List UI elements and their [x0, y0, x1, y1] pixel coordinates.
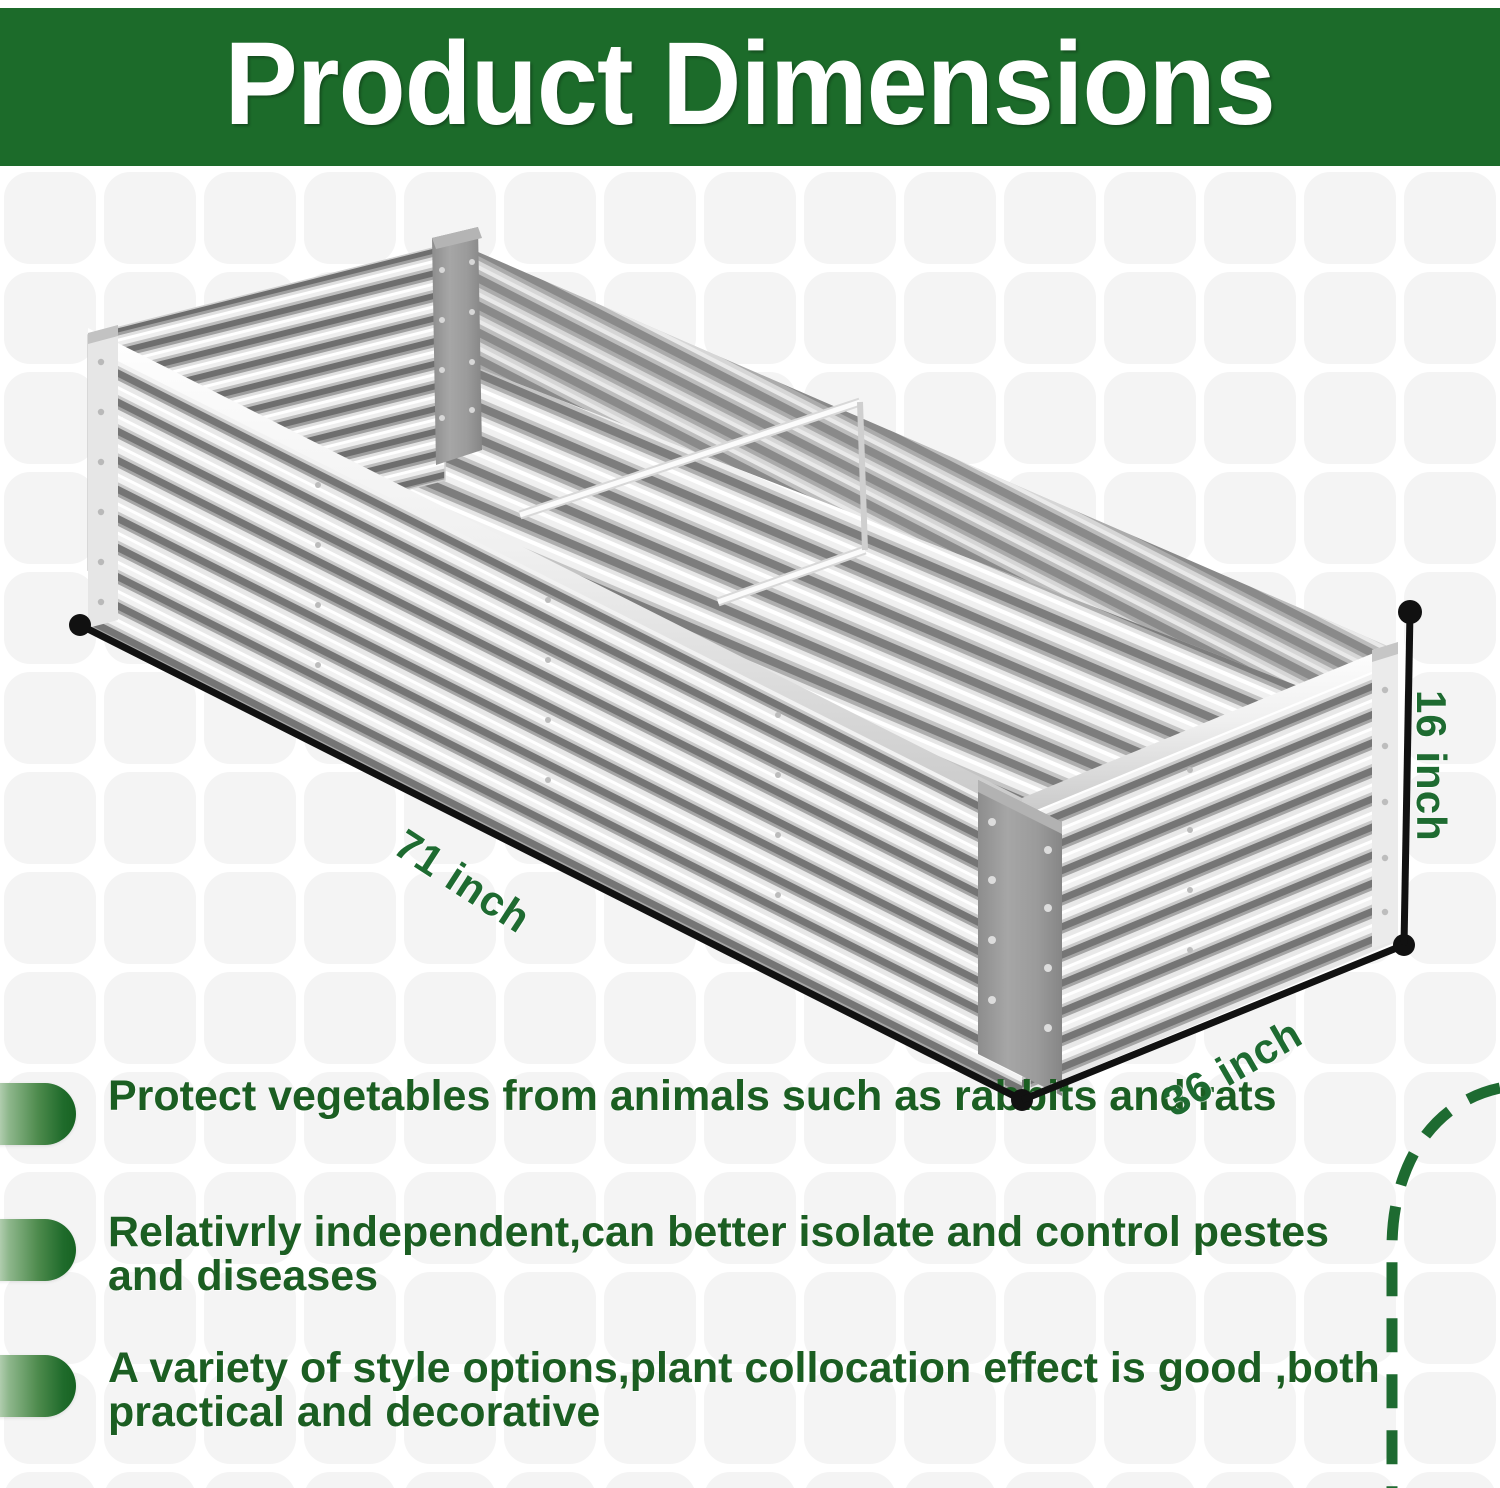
feature-list: Protect vegetables from animals such as … — [0, 1075, 1420, 1483]
corner-post-right — [1372, 642, 1398, 948]
list-item: A variety of style options,plant colloca… — [0, 1347, 1420, 1447]
bullet-pill-icon — [0, 1083, 76, 1145]
bullet-pill-icon — [0, 1219, 76, 1281]
product-dimensions-infographic: Product Dimensions — [0, 0, 1500, 1488]
corner-post-left — [88, 325, 118, 628]
corner-post-front — [978, 780, 1062, 1096]
list-item-label: A variety of style options,plant colloca… — [108, 1347, 1408, 1435]
list-item: Protect vegetables from animals such as … — [0, 1075, 1420, 1175]
list-item-label: Relativrly independent,can better isolat… — [108, 1211, 1408, 1299]
list-item: Relativrly independent,can better isolat… — [0, 1211, 1420, 1311]
page-title: Product Dimensions — [225, 25, 1275, 149]
header-banner: Product Dimensions — [0, 8, 1500, 166]
raised-garden-bed-illustration — [0, 150, 1500, 1150]
list-item-label: Protect vegetables from animals such as … — [108, 1075, 1277, 1119]
corner-post-far — [432, 227, 482, 465]
bullet-pill-icon — [0, 1355, 76, 1417]
